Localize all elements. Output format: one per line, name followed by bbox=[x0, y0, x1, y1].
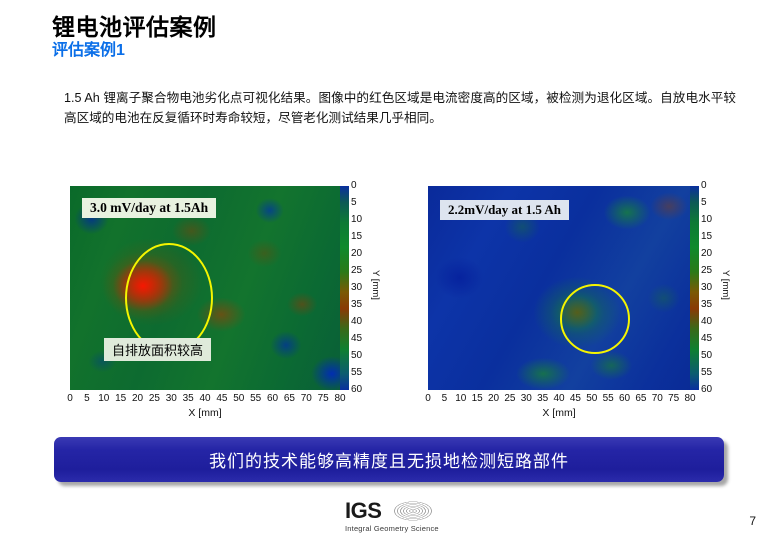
y-axis-title-left: Y [mm] bbox=[370, 270, 381, 300]
heatmap-figure-right: 2.2mV/day at 1.5 Ah 05101520253035404550… bbox=[420, 178, 723, 416]
y-tick-label: 60 bbox=[351, 385, 362, 395]
x-tick-label: 55 bbox=[603, 393, 614, 404]
x-tick-label: 25 bbox=[149, 393, 160, 404]
x-tick-label: 5 bbox=[442, 393, 448, 404]
x-tick-label: 45 bbox=[570, 393, 581, 404]
y-tick-label: 15 bbox=[701, 232, 712, 242]
x-tick-label: 75 bbox=[668, 393, 679, 404]
y-tick-label: 5 bbox=[351, 198, 357, 208]
heatmap-plot-area-right: 2.2mV/day at 1.5 Ah bbox=[428, 186, 690, 390]
conclusion-banner-text: 我们的技术能够高精度且无损地检测短路部件 bbox=[209, 447, 569, 472]
igs-logo: IGS Integral Geometry Science bbox=[345, 500, 455, 532]
y-tick-label: 25 bbox=[701, 266, 712, 276]
x-tick-label: 0 bbox=[425, 393, 431, 404]
x-tick-label: 15 bbox=[472, 393, 483, 404]
x-tick-label: 5 bbox=[84, 393, 90, 404]
x-axis-right: 05101520253035404550556065707580 bbox=[428, 393, 690, 407]
x-tick-label: 35 bbox=[537, 393, 548, 404]
x-tick-label: 20 bbox=[132, 393, 143, 404]
y-tick-label: 35 bbox=[351, 300, 362, 310]
x-tick-label: 50 bbox=[586, 393, 597, 404]
marker-circle-right bbox=[560, 284, 630, 354]
x-axis-left: 05101520253035404550556065707580 bbox=[70, 393, 340, 407]
x-tick-label: 60 bbox=[619, 393, 630, 404]
x-tick-label: 70 bbox=[652, 393, 663, 404]
x-tick-label: 35 bbox=[183, 393, 194, 404]
y-tick-label: 30 bbox=[701, 283, 712, 293]
heatmap-label-right: 2.2mV/day at 1.5 Ah bbox=[440, 200, 569, 220]
y-tick-label: 50 bbox=[701, 351, 712, 361]
y-tick-label: 50 bbox=[351, 351, 362, 361]
y-tick-label: 15 bbox=[351, 232, 362, 242]
x-tick-label: 25 bbox=[504, 393, 515, 404]
marker-ellipse-left bbox=[125, 243, 213, 353]
x-tick-label: 10 bbox=[455, 393, 466, 404]
colorbar-left bbox=[340, 186, 349, 390]
y-tick-label: 20 bbox=[701, 249, 712, 259]
y-tick-label: 35 bbox=[701, 300, 712, 310]
y-tick-label: 20 bbox=[351, 249, 362, 259]
x-tick-label: 0 bbox=[67, 393, 73, 404]
y-tick-label: 60 bbox=[701, 385, 712, 395]
body-paragraph: 1.5 Ah 锂离子聚合物电池劣化点可视化结果。图像中的红色区域是电流密度高的区… bbox=[64, 88, 736, 128]
igs-orb-icon bbox=[393, 501, 433, 521]
x-tick-label: 40 bbox=[199, 393, 210, 404]
y-tick-label: 45 bbox=[351, 334, 362, 344]
y-tick-label: 40 bbox=[351, 317, 362, 327]
x-tick-label: 10 bbox=[98, 393, 109, 404]
heatmap-figure-left: 3.0 mV/day at 1.5Ah 自排放面积较高 051015202530… bbox=[62, 178, 380, 416]
y-tick-label: 45 bbox=[701, 334, 712, 344]
heatmap-plot-area-left: 3.0 mV/day at 1.5Ah 自排放面积较高 bbox=[70, 186, 340, 390]
page-subtitle: 评估案例1 bbox=[52, 36, 125, 60]
y-tick-label: 10 bbox=[701, 215, 712, 225]
x-tick-label: 75 bbox=[318, 393, 329, 404]
heatmap-label-left: 3.0 mV/day at 1.5Ah bbox=[82, 198, 216, 218]
x-tick-label: 65 bbox=[284, 393, 295, 404]
igs-logo-mark: IGS bbox=[345, 500, 381, 522]
x-tick-label: 20 bbox=[488, 393, 499, 404]
x-tick-label: 80 bbox=[684, 393, 695, 404]
y-tick-label: 55 bbox=[351, 368, 362, 378]
x-tick-label: 30 bbox=[521, 393, 532, 404]
x-tick-label: 15 bbox=[115, 393, 126, 404]
page-number: 7 bbox=[749, 514, 756, 528]
igs-logo-subtitle: Integral Geometry Science bbox=[345, 524, 439, 533]
colorbar-right bbox=[690, 186, 699, 390]
x-tick-label: 55 bbox=[250, 393, 261, 404]
x-tick-label: 60 bbox=[267, 393, 278, 404]
x-tick-label: 50 bbox=[233, 393, 244, 404]
heatmap-annotation-left: 自排放面积较高 bbox=[104, 338, 211, 361]
x-tick-label: 45 bbox=[216, 393, 227, 404]
x-tick-label: 65 bbox=[635, 393, 646, 404]
x-tick-label: 80 bbox=[334, 393, 345, 404]
x-tick-label: 30 bbox=[166, 393, 177, 404]
x-axis-title-left: X [mm] bbox=[70, 407, 340, 419]
y-tick-label: 25 bbox=[351, 266, 362, 276]
y-tick-label: 10 bbox=[351, 215, 362, 225]
x-tick-label: 70 bbox=[301, 393, 312, 404]
y-axis-title-right: Y [mm] bbox=[720, 270, 731, 300]
y-tick-label: 40 bbox=[701, 317, 712, 327]
slide-canvas: 锂电池评估案例 评估案例1 1.5 Ah 锂离子聚合物电池劣化点可视化结果。图像… bbox=[0, 0, 778, 536]
x-axis-title-right: X [mm] bbox=[428, 407, 690, 419]
y-tick-label: 0 bbox=[701, 181, 707, 191]
y-tick-label: 30 bbox=[351, 283, 362, 293]
x-tick-label: 40 bbox=[553, 393, 564, 404]
y-tick-label: 55 bbox=[701, 368, 712, 378]
conclusion-banner: 我们的技术能够高精度且无损地检测短路部件 bbox=[54, 437, 724, 482]
y-tick-label: 5 bbox=[701, 198, 707, 208]
y-tick-label: 0 bbox=[351, 181, 357, 191]
